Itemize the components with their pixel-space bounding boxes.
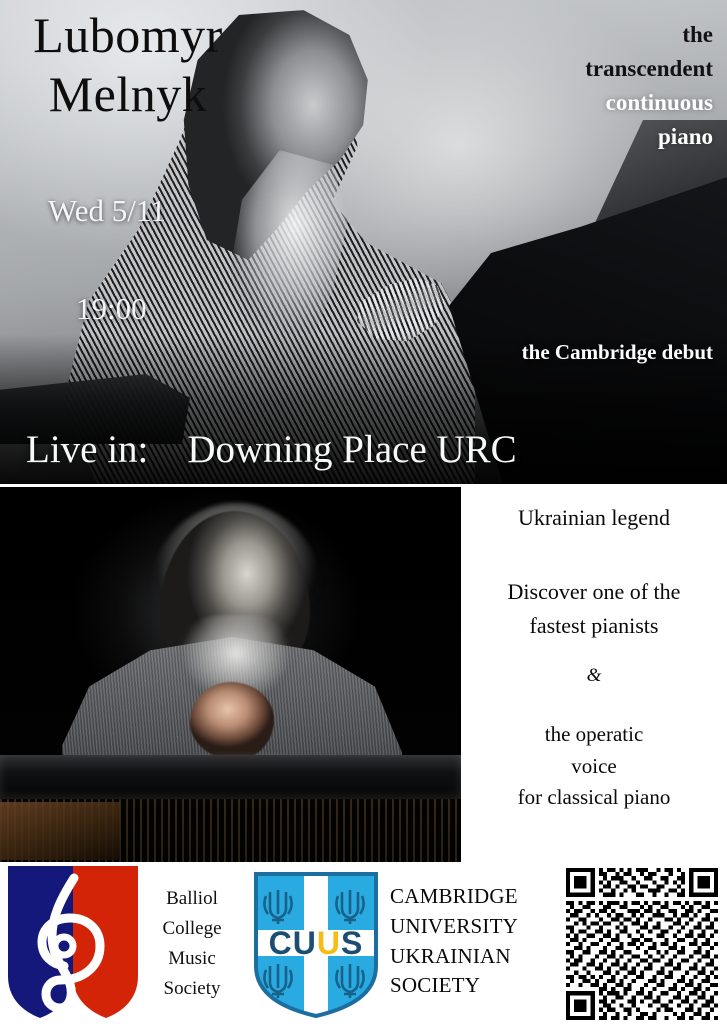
event-time: 19:00 — [76, 291, 147, 327]
artist-last-name: Melnyk — [18, 65, 238, 124]
copy-block-two-line-2: voice — [461, 751, 727, 783]
copy-block-one: Discover one of the fastest pianists — [461, 575, 727, 643]
cuus-society-name: CAMBRIDGE UNIVERSITY UKRAINIAN SOCIETY — [390, 882, 518, 1001]
balliol-line-1: Balliol — [142, 884, 242, 914]
tagline-block: the transcendent continuous piano — [453, 18, 713, 154]
hero-photo-section: Lubomyr Melnyk the transcendent continuo… — [0, 0, 727, 484]
balliol-line-3: Music — [142, 944, 242, 974]
copy-block-two-line-1: the operatic — [461, 719, 727, 751]
copy-block-one-line-1: Discover one of the — [461, 575, 727, 609]
qr-code[interactable] — [566, 868, 718, 1020]
piano-wood-panel-shape — [0, 802, 120, 860]
tagline-line-2: transcendent — [453, 52, 713, 86]
copy-block-one-line-2: fastest pianists — [461, 609, 727, 643]
event-date: Wed 5/11 — [48, 193, 166, 229]
cuus-line-4: SOCIETY — [390, 971, 518, 1001]
copy-panel: Ukrainian legend Discover one of the fas… — [461, 487, 727, 862]
poster: Lubomyr Melnyk the transcendent continuo… — [0, 0, 727, 1024]
tagline-line-1: the — [453, 18, 713, 52]
balliol-line-2: College — [142, 914, 242, 944]
cuus-line-2: UNIVERSITY — [390, 912, 518, 942]
debut-caption: the Cambridge debut — [522, 340, 713, 365]
ampersand-ornament: & — [461, 665, 727, 687]
middle-section: Ukrainian legend Discover one of the fas… — [0, 487, 727, 862]
cuus-line-1: CAMBRIDGE — [390, 882, 518, 912]
venue-line: Live in: Downing Place URC — [26, 427, 517, 472]
balliol-society-name: Balliol College Music Society — [142, 884, 242, 1004]
balliol-music-society-shield-icon — [8, 866, 138, 1018]
artist-name: Lubomyr Melnyk — [18, 6, 238, 124]
portrait-photo — [0, 487, 461, 862]
copy-block-two: the operatic voice for classical piano — [461, 719, 727, 814]
cuus-line-3: UKRAINIAN — [390, 942, 518, 972]
artist-first-name: Lubomyr — [33, 7, 223, 63]
svg-text:CUUS: CUUS — [269, 925, 364, 961]
copy-block-two-line-3: for classical piano — [461, 782, 727, 814]
tagline-line-4: piano — [453, 120, 713, 154]
cuus-shield-icon: CUUS — [252, 870, 380, 1018]
piano-lid-shape — [0, 755, 461, 799]
copy-headline: Ukrainian legend — [461, 505, 727, 531]
balliol-line-4: Society — [142, 974, 242, 1004]
footer-logos: Balliol College Music Society — [0, 862, 727, 1024]
portrait-clasped-hands-shape — [190, 682, 274, 760]
tagline-line-3: continuous — [453, 86, 713, 120]
